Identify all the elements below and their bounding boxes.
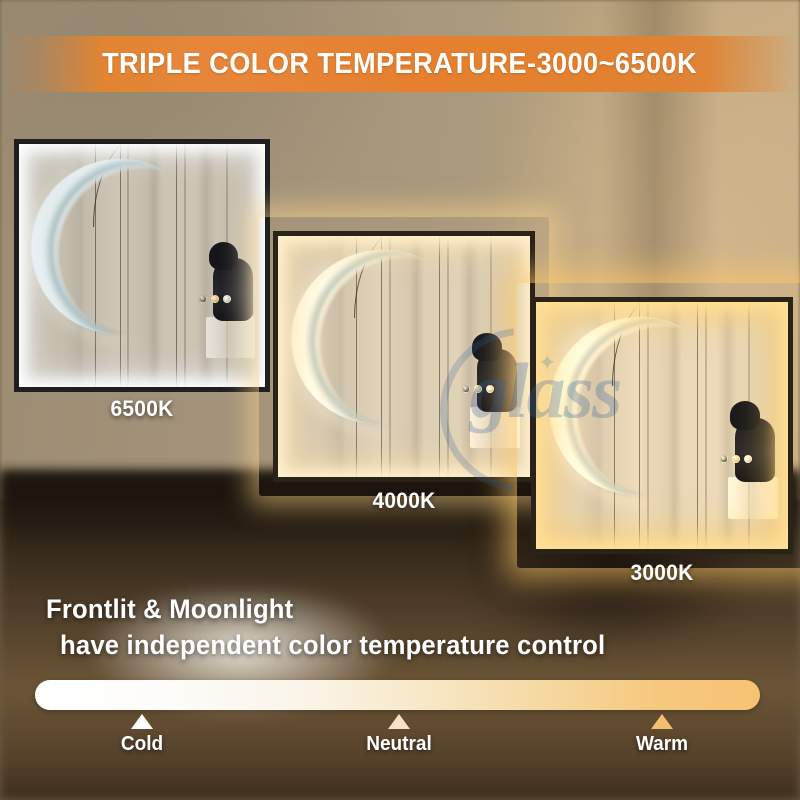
control-dot-3-icon[interactable] bbox=[744, 455, 752, 463]
slider-tick-neutral-icon bbox=[388, 714, 410, 729]
page-title: TRIPLE COLOR TEMPERATURE-3000~6500K bbox=[102, 48, 697, 81]
mirror-card-3000k[interactable] bbox=[531, 297, 793, 554]
slider-tick-cold-icon bbox=[131, 714, 153, 729]
headline-line-1: Frontlit & Moonlight bbox=[46, 594, 721, 625]
mirror-label-3000k: 3000K bbox=[586, 560, 738, 586]
slider-label-warm: Warm bbox=[586, 733, 738, 756]
slider-label-cold: Cold bbox=[66, 733, 218, 756]
cup-holder bbox=[728, 477, 778, 519]
product-infographic: TRIPLE COLOR TEMPERATURE-3000~6500K bbox=[0, 0, 800, 800]
mirror-card-6500k[interactable] bbox=[14, 139, 270, 392]
bottle-silhouette bbox=[213, 258, 252, 321]
cup-holder bbox=[470, 407, 520, 448]
touch-control-panel[interactable] bbox=[199, 295, 231, 303]
cup-holder bbox=[206, 317, 255, 358]
control-dot-2-icon[interactable] bbox=[211, 295, 219, 303]
color-temperature-slider[interactable] bbox=[35, 680, 760, 710]
control-dot-1-icon[interactable] bbox=[199, 295, 207, 303]
reflected-scene bbox=[19, 144, 265, 387]
moonlight-graphic bbox=[549, 317, 730, 495]
bottle-silhouette bbox=[735, 418, 775, 482]
control-dot-2-icon[interactable] bbox=[474, 385, 482, 393]
control-dot-3-icon[interactable] bbox=[223, 295, 231, 303]
touch-control-panel[interactable] bbox=[720, 455, 752, 463]
mirror-glass bbox=[536, 302, 788, 549]
mirror-label-6500k: 6500K bbox=[66, 396, 218, 422]
mirror-glass bbox=[278, 236, 530, 477]
headline-block: Frontlit & Moonlight have independent co… bbox=[46, 594, 756, 661]
mirror-glass bbox=[19, 144, 265, 387]
slider-tick-warm-icon bbox=[651, 714, 673, 729]
mirror-label-4000k: 4000K bbox=[328, 488, 480, 514]
control-dot-3-icon[interactable] bbox=[486, 385, 494, 393]
slider-label-neutral: Neutral bbox=[323, 733, 475, 756]
mirror-card-4000k[interactable] bbox=[273, 231, 535, 482]
control-dot-2-icon[interactable] bbox=[732, 455, 740, 463]
reflected-scene bbox=[278, 236, 530, 477]
bottle-silhouette bbox=[477, 349, 517, 412]
headline-line-2: have independent color temperature contr… bbox=[60, 630, 721, 661]
reflected-scene bbox=[536, 302, 788, 549]
control-dot-1-icon[interactable] bbox=[720, 455, 728, 463]
header-banner: TRIPLE COLOR TEMPERATURE-3000~6500K bbox=[0, 36, 800, 92]
touch-control-panel[interactable] bbox=[462, 385, 494, 393]
moonlight-graphic bbox=[291, 250, 472, 424]
control-dot-1-icon[interactable] bbox=[462, 385, 470, 393]
moonlight-graphic bbox=[31, 159, 208, 334]
